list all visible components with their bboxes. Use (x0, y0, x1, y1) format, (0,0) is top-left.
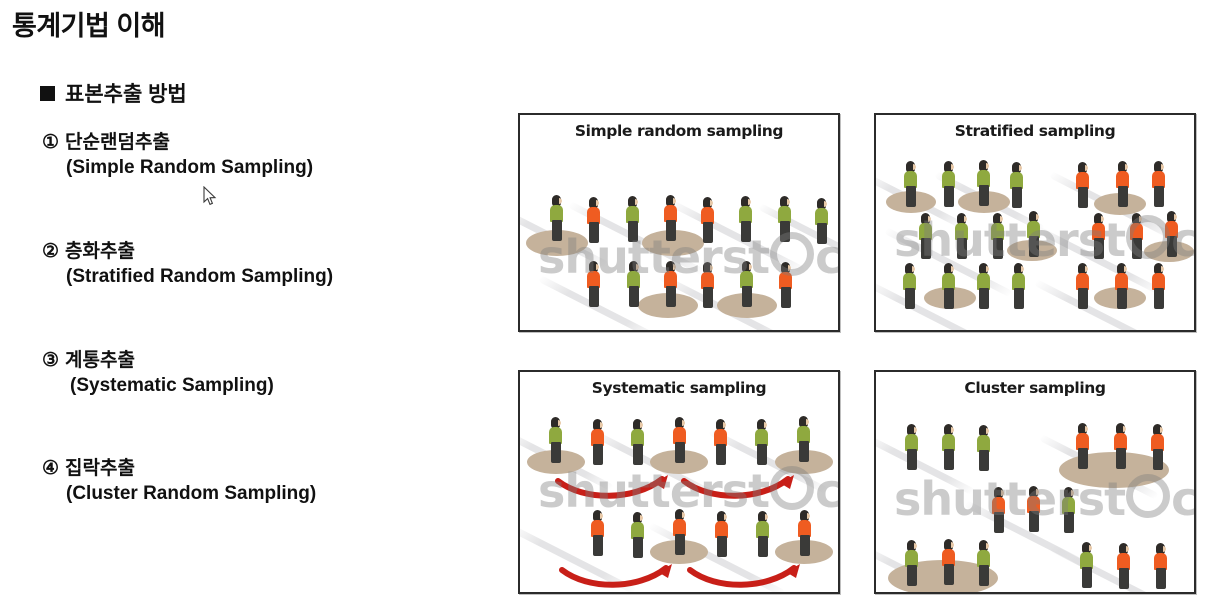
panel-simple-canvas: shutterstck (520, 115, 838, 330)
panel-simple-random-sampling: shutterstck Simple random sampling (518, 113, 840, 332)
panel-cluster-sampling: shutterstck Cluster sampling (874, 370, 1196, 594)
method-3-number: ③ (42, 350, 59, 371)
square-bullet-icon (40, 86, 55, 101)
method-item-3: ③계통추출 (Systematic Sampling) (42, 350, 274, 397)
method-2-number: ② (42, 241, 59, 262)
method-3-korean: ③계통추출 (42, 350, 274, 372)
method-1-korean: ①단순랜덤추출 (42, 132, 313, 154)
method-1-english: (Simple Random Sampling) (66, 157, 313, 179)
selection-arrow-icon (686, 564, 806, 594)
section-heading-label: 표본추출 방법 (65, 78, 187, 108)
method-item-1: ①단순랜덤추출 (Simple Random Sampling) (42, 132, 313, 179)
panel-simple-title: Simple random sampling (520, 122, 838, 140)
method-3-english: (Systematic Sampling) (70, 375, 274, 397)
panel-systematic-sampling: shutterstck Systematic sampling (518, 370, 840, 594)
method-4-korean-label: 집락추출 (65, 458, 135, 479)
panel-systematic-canvas: shutterstck (520, 372, 838, 592)
method-2-korean-label: 층화추출 (65, 241, 135, 262)
panel-stratified-sampling: shutterstck Stratified sampling (874, 113, 1196, 332)
method-item-2: ②층화추출 (Stratified Random Sampling) (42, 241, 333, 288)
method-4-number: ④ (42, 458, 59, 479)
method-4-english: (Cluster Random Sampling) (66, 483, 316, 505)
method-4-korean: ④집락추출 (42, 458, 316, 480)
selection-arrow-icon (554, 475, 674, 505)
mouse-cursor-icon (203, 186, 217, 206)
selection-arrow-icon (680, 475, 800, 505)
method-item-4: ④집락추출 (Cluster Random Sampling) (42, 458, 316, 505)
method-2-korean: ②층화추출 (42, 241, 333, 263)
method-2-english: (Stratified Random Sampling) (66, 266, 333, 288)
panel-stratified-canvas: shutterstck (876, 115, 1194, 330)
selection-arrow-icon (558, 564, 678, 594)
section-heading: 표본추출 방법 (40, 78, 187, 108)
panel-systematic-title: Systematic sampling (520, 379, 838, 397)
panel-cluster-canvas: shutterstck (876, 372, 1194, 592)
method-1-number: ① (42, 132, 59, 153)
panel-stratified-title: Stratified sampling (876, 122, 1194, 140)
panel-cluster-title: Cluster sampling (876, 379, 1194, 397)
method-3-korean-label: 계통추출 (65, 350, 135, 371)
page-title: 통계기법 이해 (12, 4, 165, 43)
method-1-korean-label: 단순랜덤추출 (65, 132, 170, 153)
